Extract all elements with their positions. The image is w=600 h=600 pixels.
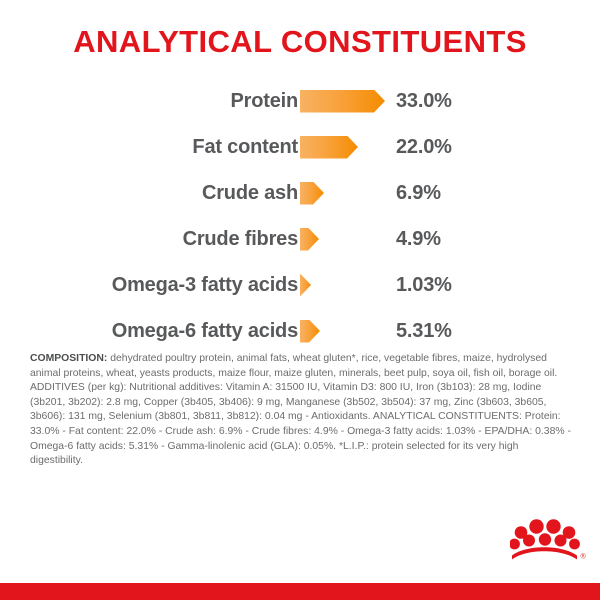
- constituent-label: Crude fibres: [0, 228, 300, 251]
- constituent-value: 22.0%: [392, 136, 452, 159]
- constituent-bar-track: [300, 274, 392, 297]
- analytical-constituents-chart: Protein 33.0% Fat content 22.0% Crude as…: [0, 78, 600, 354]
- constituent-bar: [300, 228, 319, 251]
- constituent-row: Crude fibres 4.9%: [0, 216, 600, 262]
- constituent-label: Fat content: [0, 136, 300, 159]
- page-title: ANALYTICAL CONSTITUENTS: [0, 24, 600, 60]
- constituent-value: 5.31%: [392, 320, 452, 343]
- composition-paragraph: COMPOSITION: dehydrated poultry protein,…: [30, 352, 571, 469]
- composition-heading: COMPOSITION:: [30, 353, 107, 364]
- constituent-row: Crude ash 6.9%: [0, 170, 600, 216]
- constituent-bar: [300, 136, 358, 159]
- royal-canin-crown-logo: ®: [510, 512, 586, 566]
- constituent-bar: [300, 274, 311, 297]
- product-info-panel: ANALYTICAL CONSTITUENTS Protein 33.0% Fa…: [0, 0, 600, 600]
- constituent-bar: [300, 90, 385, 113]
- constituent-label: Protein: [0, 90, 300, 113]
- constituent-bar-track: [300, 136, 392, 159]
- constituent-bar: [300, 320, 320, 343]
- constituent-bar-track: [300, 320, 392, 343]
- constituent-value: 6.9%: [392, 182, 441, 205]
- composition-body: dehydrated poultry protein, animal fats,…: [30, 353, 571, 466]
- constituent-value: 4.9%: [392, 228, 441, 251]
- constituent-row: Fat content 22.0%: [0, 124, 600, 170]
- constituent-bar-track: [300, 228, 392, 251]
- constituent-row: Omega-3 fatty acids 1.03%: [0, 262, 600, 308]
- constituent-bar-track: [300, 182, 392, 205]
- footer-red-band: [0, 583, 600, 600]
- constituent-row: Protein 33.0%: [0, 78, 600, 124]
- constituent-label: Omega-6 fatty acids: [0, 320, 300, 343]
- constituent-value: 1.03%: [392, 274, 452, 297]
- constituent-value: 33.0%: [392, 90, 452, 113]
- constituent-bar: [300, 182, 324, 205]
- registered-trademark-mark: ®: [581, 553, 587, 561]
- constituent-row: Omega-6 fatty acids 5.31%: [0, 308, 600, 354]
- constituent-bar-track: [300, 90, 392, 113]
- constituent-label: Omega-3 fatty acids: [0, 274, 300, 297]
- constituent-label: Crude ash: [0, 182, 300, 205]
